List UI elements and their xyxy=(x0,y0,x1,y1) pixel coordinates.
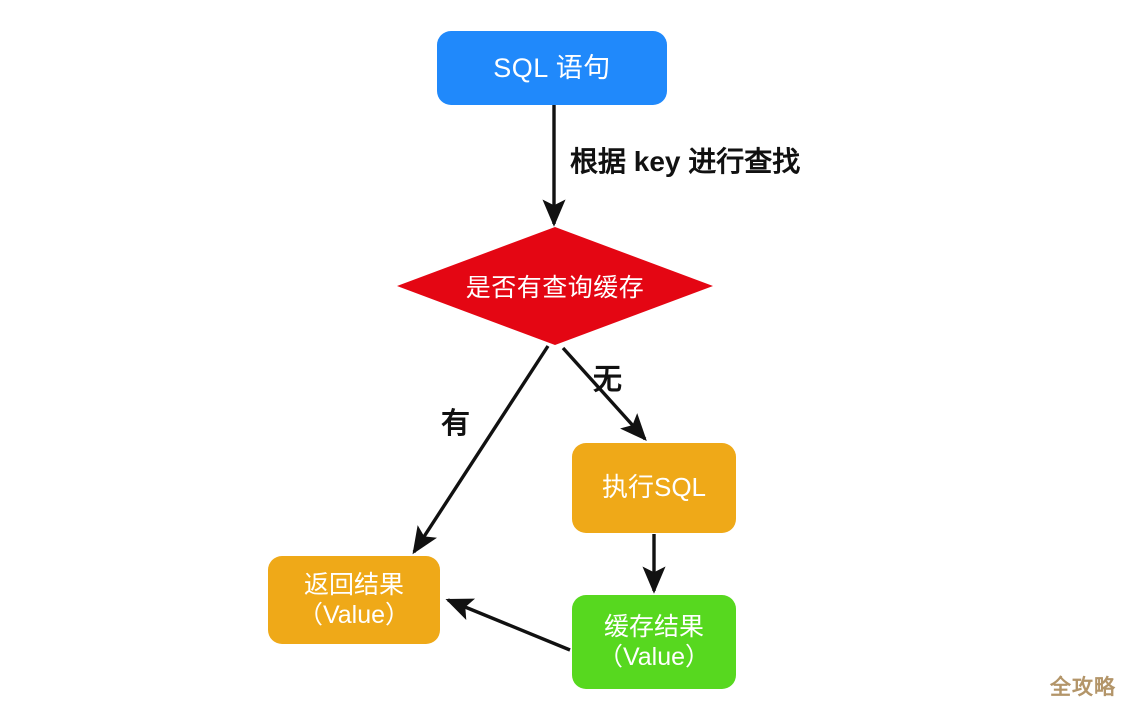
node-return-result[interactable]: 返回结果 （Value） xyxy=(268,556,440,644)
diagram-edges xyxy=(0,0,1122,706)
edge-label-key-lookup: 根据 key 进行查找 xyxy=(570,140,800,180)
node-cache-result[interactable]: 缓存结果 （Value） xyxy=(572,595,736,689)
node-execute-sql[interactable]: 执行SQL xyxy=(572,443,736,533)
edge-label-yes: 有 xyxy=(441,400,470,442)
decision-label: 是否有查询缓存 xyxy=(397,227,713,345)
edge-decision-to-return xyxy=(414,346,548,552)
node-sql-statement[interactable]: SQL 语句 xyxy=(437,31,667,105)
diagram-canvas: SQL 语句 是否有查询缓存 执行SQL 返回结果 （Value） 缓存结果 （… xyxy=(0,0,1122,706)
edge-cache-to-return xyxy=(448,600,570,650)
edge-label-no: 无 xyxy=(593,356,622,398)
node-has-query-cache[interactable]: 是否有查询缓存 xyxy=(397,227,713,345)
watermark: 全攻略 xyxy=(1050,671,1116,701)
